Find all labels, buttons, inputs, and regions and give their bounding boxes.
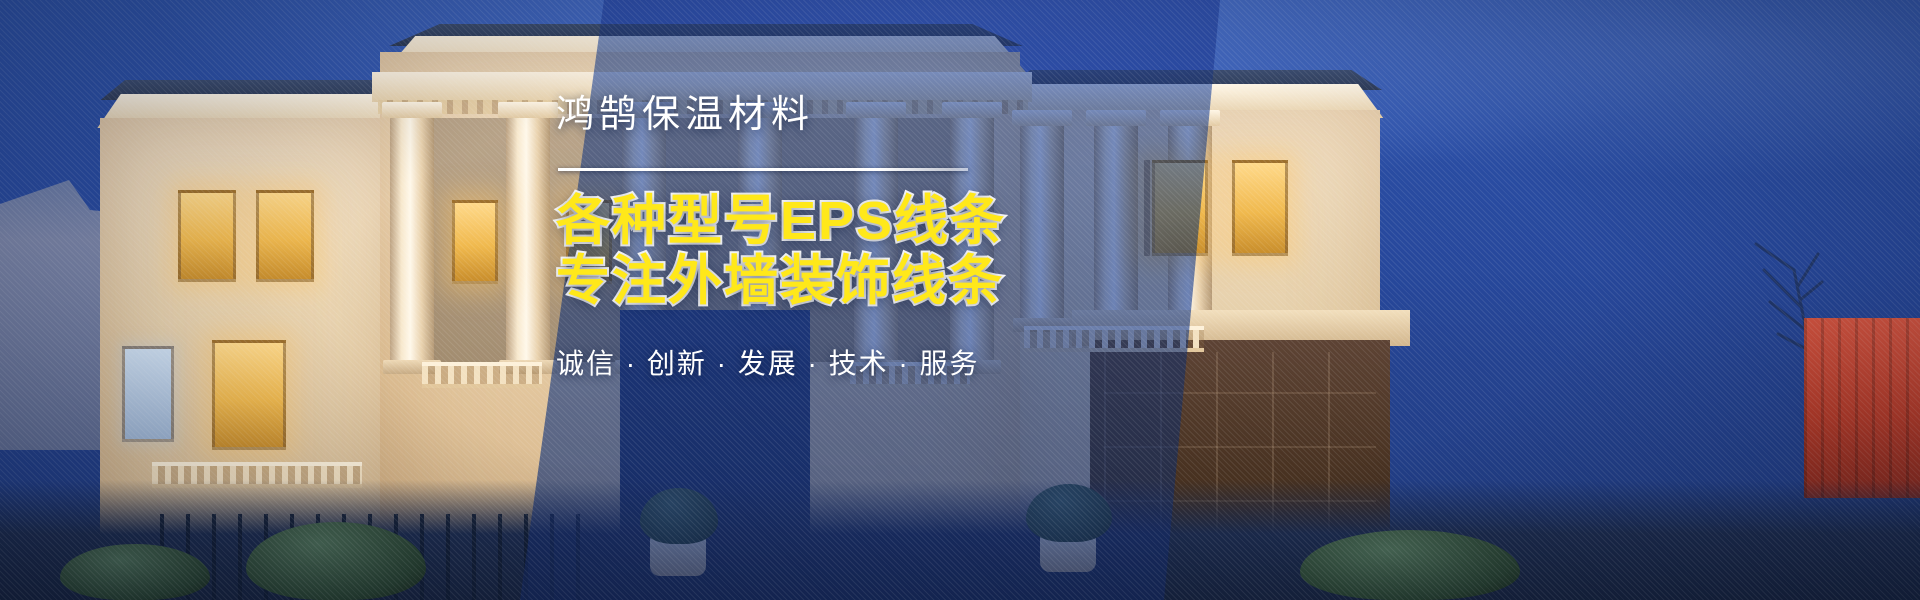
headline-line-2: 专注外墙装饰线条 — [556, 251, 1196, 311]
lit-window — [212, 340, 286, 450]
lit-window — [256, 190, 314, 282]
column — [506, 114, 550, 364]
banner-content: 鸿鹄保温材料 各种型号EPS线条 专注外墙装饰线条 诚信 · 创新 · 发展 ·… — [556, 96, 1196, 382]
column — [390, 114, 434, 364]
lit-window — [452, 200, 498, 284]
window — [122, 346, 174, 442]
lit-window — [1232, 160, 1288, 256]
headline-line-1: 各种型号EPS线条 — [556, 191, 1196, 251]
headline-block: 各种型号EPS线条 专注外墙装饰线条 — [556, 191, 1196, 312]
company-name: 鸿鹄保温材料 — [556, 96, 1196, 134]
title-divider — [558, 168, 968, 171]
balustrade — [422, 362, 542, 388]
red-container — [1804, 318, 1920, 498]
tagline: 诚信 · 创新 · 发展 · 技术 · 服务 — [556, 342, 1196, 382]
hero-banner: 鸿鹄保温材料 各种型号EPS线条 专注外墙装饰线条 诚信 · 创新 · 发展 ·… — [0, 0, 1920, 600]
lit-window — [178, 190, 236, 282]
